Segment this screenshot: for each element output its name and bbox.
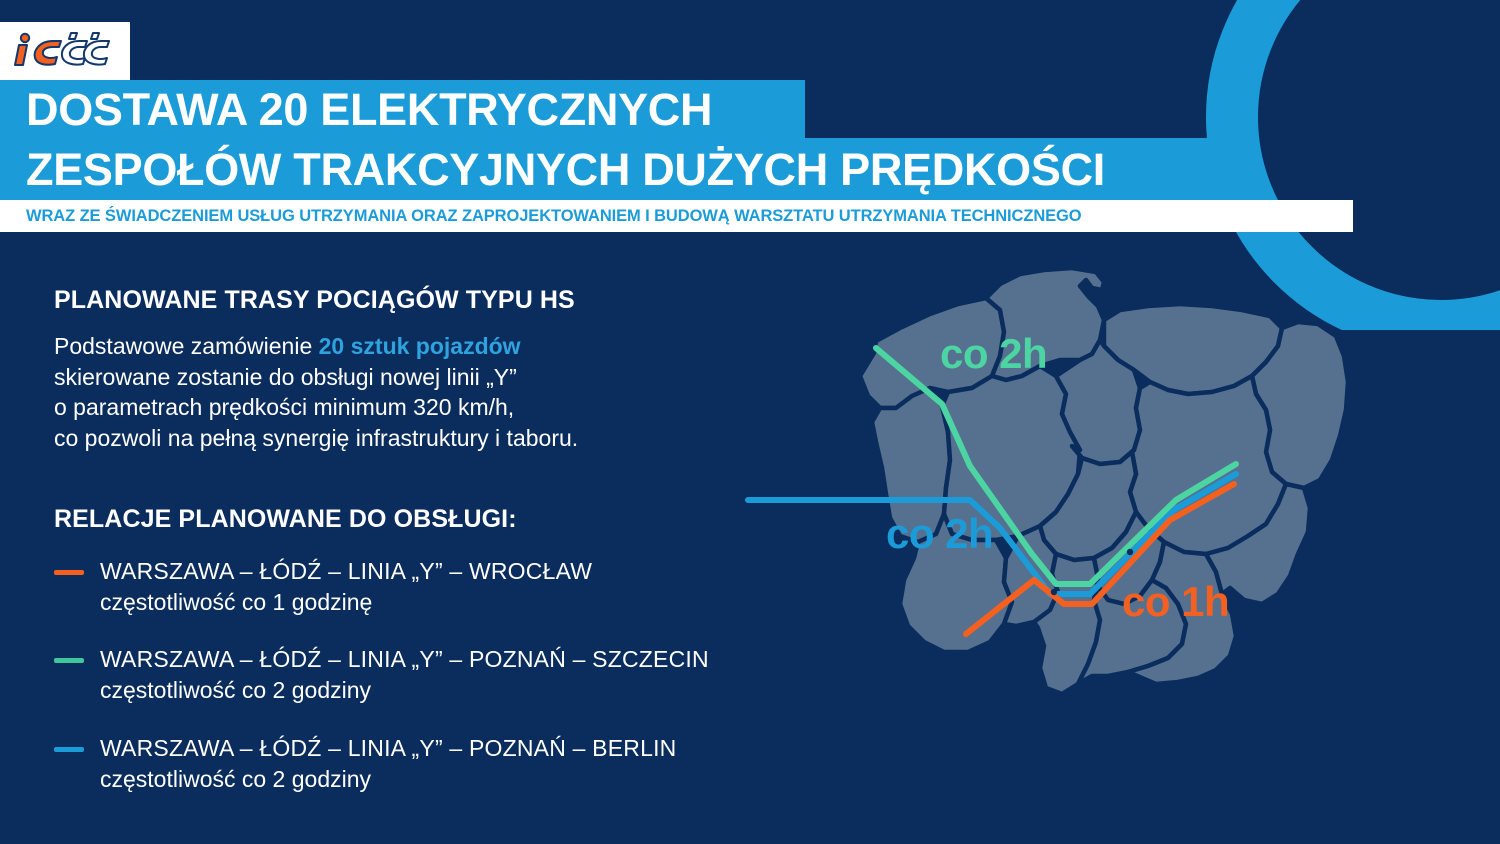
legend-dash-blue (54, 747, 84, 752)
legend-frequency-wroclaw: częstotliwość co 1 godzinę (100, 587, 592, 618)
legend-frequency-szczecin: częstotliwość co 2 godziny (100, 675, 709, 706)
title-line2: ZESPOŁÓW TRAKCYJNYCH DUŻYCH PRĘDKOŚCI (0, 147, 1105, 192)
map-station-dots (700, 236, 1500, 836)
route-legend-list: WARSZAWA – ŁÓDŹ – LINIA „Y” – WROCŁAW cz… (54, 556, 814, 794)
para-line2: skierowane zostanie do obsługi nowej lin… (54, 364, 517, 390)
title-line1: DOSTAWA 20 ELEKTRYCZNYCH (0, 87, 712, 132)
subtitle-bar: WRAZ ZE ŚWIADCZENIEM USŁUG UTRZYMANIA OR… (0, 200, 1353, 232)
ic-logo-icon (13, 31, 117, 71)
para-line4: co pozwoli na pełną synergię infrastrukt… (54, 425, 578, 451)
legend-route-wroclaw: WARSZAWA – ŁÓDŹ – LINIA „Y” – WROCŁAW (100, 556, 592, 587)
legend-dash-orange (54, 570, 84, 575)
para-line3: o parametrach prędkości minimum 320 km/h… (54, 394, 514, 420)
station-dot-linia-y (1127, 549, 1133, 555)
map-label-szczecin-2h: co 2h (940, 330, 1047, 378)
para-line1-pre: Podstawowe zamówienie (54, 333, 319, 359)
legend-heading: RELACJE PLANOWANE DO OBSŁUGI: (54, 505, 814, 534)
legend-frequency-berlin: częstotliwość co 2 godziny (100, 764, 676, 795)
subtitle-text: WRAZ ZE ŚWIADCZENIEM USŁUG UTRZYMANIA OR… (0, 207, 1082, 226)
ic-logo (0, 22, 130, 80)
poland-map (700, 236, 1500, 836)
title-band-line1: DOSTAWA 20 ELEKTRYCZNYCH (0, 80, 805, 138)
infographic-canvas: DOSTAWA 20 ELEKTRYCZNYCH ZESPOŁÓW TRAKCY… (0, 0, 1500, 844)
left-content-panel: PLANOWANE TRASY POCIĄGÓW TYPU HS Podstaw… (54, 286, 814, 821)
legend-dash-green (54, 658, 84, 663)
legend-item-wroclaw: WARSZAWA – ŁÓDŹ – LINIA „Y” – WROCŁAW cz… (54, 556, 814, 618)
legend-route-szczecin: WARSZAWA – ŁÓDŹ – LINIA „Y” – POZNAŃ – S… (100, 644, 709, 675)
intro-paragraph: Podstawowe zamówienie 20 sztuk pojazdóws… (54, 331, 814, 453)
section-heading: PLANOWANE TRASY POCIĄGÓW TYPU HS (54, 286, 814, 315)
para-highlight: 20 sztuk pojazdów (319, 333, 521, 359)
map-label-wroclaw-1h: co 1h (1122, 578, 1229, 626)
station-dot-lodz (1051, 589, 1057, 595)
legend-route-berlin: WARSZAWA – ŁÓDŹ – LINIA „Y” – POZNAŃ – B… (100, 733, 676, 764)
map-label-berlin-2h: co 2h (886, 510, 993, 558)
legend-item-szczecin: WARSZAWA – ŁÓDŹ – LINIA „Y” – POZNAŃ – S… (54, 644, 814, 706)
legend-item-berlin: WARSZAWA – ŁÓDŹ – LINIA „Y” – POZNAŃ – B… (54, 733, 814, 795)
title-band-line2: ZESPOŁÓW TRAKCYJNYCH DUŻYCH PRĘDKOŚCI (0, 138, 1232, 200)
